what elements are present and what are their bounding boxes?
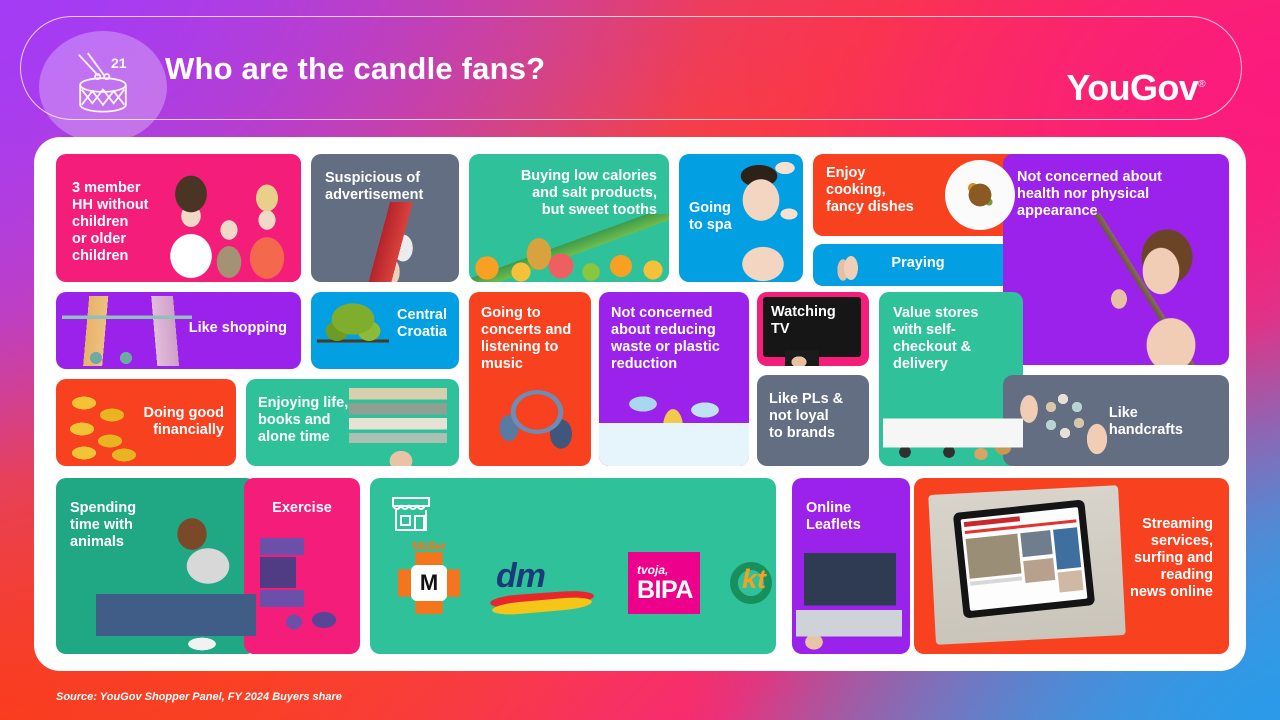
tile-label: Streaming services, surfing and reading …	[1130, 516, 1213, 602]
content-board: 3 member HH without children or older ch…	[34, 137, 1246, 671]
tile-label: Going to concerts and listening to music	[481, 305, 571, 373]
drum-icon	[64, 50, 142, 125]
tile-not-health-concerned[interactable]: Not concerned about health nor physical …	[1003, 154, 1229, 365]
tile-label: Like PLs & not loyal to brands	[769, 391, 843, 442]
gold-coins-photo	[60, 385, 152, 463]
tile-label: 3 member HH without children or older ch…	[72, 180, 149, 266]
tile-exercise[interactable]: Exercise	[244, 478, 360, 654]
tile-label: Watching TV	[771, 304, 836, 338]
logo-trademark: ®	[1198, 79, 1205, 90]
tile-label: Praying	[813, 255, 1023, 272]
yougov-logo: YouGov®	[1066, 67, 1205, 109]
tile-label: Exercise	[244, 500, 360, 517]
ktc-mark: kt	[742, 564, 766, 596]
tile-label: Online Leaflets	[806, 500, 861, 534]
muller-mark: M	[420, 570, 438, 596]
plastic-bottles-photo	[599, 376, 749, 466]
tile-label: Going to spa	[689, 200, 732, 234]
gourmet-plate-photo	[945, 160, 1015, 230]
tile-not-waste-concerned[interactable]: Not concerned about reducing waste or pl…	[599, 292, 749, 466]
brand-ktc: kt KTC	[730, 560, 776, 606]
tile-praying[interactable]: Praying	[813, 244, 1023, 286]
tile-label: Suspicious of advertisement	[325, 170, 423, 204]
tile-central-croatia[interactable]: Central Croatia	[311, 292, 459, 369]
tile-enjoying-life[interactable]: Enjoying life, books and alone time	[246, 379, 459, 466]
fruits-photo	[469, 214, 669, 282]
tile-concerts-music[interactable]: Going to concerts and listening to music	[469, 292, 591, 466]
hand-remote	[785, 350, 819, 366]
tile-label: Like shopping	[189, 320, 287, 337]
tile-label: Buying low calories and salt products, b…	[521, 168, 657, 219]
drum-badge: 21	[39, 31, 167, 143]
tile-label: Enjoy cooking, fancy dishes	[826, 165, 914, 216]
dm-name: dm	[496, 556, 545, 596]
family-photo	[155, 154, 301, 282]
tile-like-handcrafts[interactable]: Like handcrafts	[1003, 375, 1229, 466]
brand-logo-row: M Müller dm tvoja, BIPA kt KTC	[398, 552, 776, 614]
tile-watching-tv[interactable]: Watching TV	[757, 292, 869, 366]
tile-spa[interactable]: Going to spa	[679, 154, 803, 282]
tile-like-shopping[interactable]: Like shopping	[56, 292, 301, 369]
tile-label: Not concerned about reducing waste or pl…	[611, 305, 720, 373]
header-bar: 21 Who are the candle fans? YouGov®	[20, 16, 1242, 120]
muller-name: Müller	[398, 539, 460, 553]
tile-like-pls[interactable]: Like PLs & not loyal to brands	[757, 375, 869, 466]
tablet-screen	[953, 499, 1095, 618]
delivery-truck-photo	[883, 396, 1023, 462]
tile-label: Enjoying life, books and alone time	[258, 395, 348, 446]
megaphone-photo	[347, 202, 439, 282]
tile-cooking[interactable]: Enjoy cooking, fancy dishes	[813, 154, 1023, 236]
brand-dm: dm	[490, 554, 598, 612]
shopping-cart-gifts	[62, 296, 192, 366]
source-note: Source: YouGov Shopper Panel, FY 2024 Bu…	[56, 691, 342, 703]
brand-bipa: tvoja, BIPA	[628, 552, 700, 614]
tile-online-leaflets[interactable]: Online Leaflets	[792, 478, 910, 654]
tile-low-calories[interactable]: Buying low calories and salt products, b…	[469, 154, 669, 282]
makeup-woman-photo	[1075, 213, 1225, 365]
tree-photo	[317, 295, 389, 367]
page-title: Who are the candle fans?	[165, 51, 545, 87]
tile-time-with-animals[interactable]: Spending time with animals	[56, 478, 256, 654]
bipa-name: BIPA	[637, 578, 700, 603]
tile-value-stores[interactable]: Value stores with self- checkout & deliv…	[879, 292, 1023, 466]
tile-suspicious-ads[interactable]: Suspicious of advertisement	[311, 154, 459, 282]
tile-retail-brands[interactable]: M Müller dm tvoja, BIPA kt KTC	[370, 478, 776, 654]
tile-label: Value stores with self- checkout & deliv…	[893, 305, 978, 373]
tile-label: Central Croatia	[397, 307, 447, 341]
tile-doing-good-financially[interactable]: Doing good financially	[56, 379, 236, 466]
tile-label: Not concerned about health nor physical …	[1017, 169, 1162, 220]
badge-number: 21	[111, 55, 127, 71]
tile-household[interactable]: 3 member HH without children or older ch…	[56, 154, 301, 282]
tile-label: Spending time with animals	[70, 500, 136, 551]
brand-muller: M Müller	[398, 552, 460, 614]
logo-text: YouGov	[1066, 67, 1198, 108]
books-stack-photo	[349, 383, 447, 466]
headphones-photo	[489, 368, 585, 464]
store-icon	[388, 492, 434, 542]
tile-label: Doing good financially	[143, 405, 224, 439]
tile-label: Like handcrafts	[1109, 405, 1183, 439]
tile-streaming-news[interactable]: Streaming services, surfing and reading …	[914, 478, 1229, 654]
laptop-photo	[796, 544, 910, 654]
dumbbells-photo	[260, 534, 350, 638]
